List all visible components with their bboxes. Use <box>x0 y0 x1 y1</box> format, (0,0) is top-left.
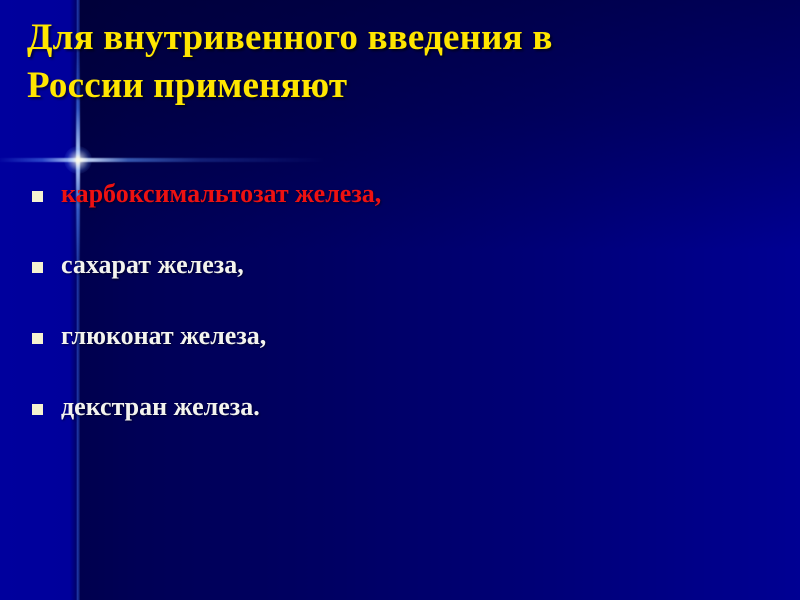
star-core-glow <box>64 146 92 174</box>
list-item-label: глюконат железа, <box>61 320 266 352</box>
square-bullet-icon <box>32 262 43 273</box>
list-item-label: сахарат железа, <box>61 249 244 281</box>
slide-title-line-1: Для внутривенного введения в <box>27 14 767 62</box>
square-bullet-icon <box>32 404 43 415</box>
star-horizontal-ray <box>0 158 326 162</box>
list-item: карбоксимальтозат железа, <box>0 178 800 249</box>
square-bullet-icon <box>32 333 43 344</box>
slide-title: Для внутривенного введения в России прим… <box>27 14 767 110</box>
list-item-label: карбоксимальтозат железа, <box>61 178 381 210</box>
slide-bullet-list: карбоксимальтозат железа, сахарат железа… <box>0 178 800 462</box>
list-item: декстран железа. <box>0 391 800 462</box>
list-item: глюконат железа, <box>0 320 800 391</box>
list-item-label: декстран железа. <box>61 391 260 423</box>
list-item: сахарат железа, <box>0 249 800 320</box>
square-bullet-icon <box>32 191 43 202</box>
slide-title-line-2: России применяют <box>27 62 767 110</box>
presentation-slide: Для внутривенного введения в России прим… <box>0 0 800 600</box>
